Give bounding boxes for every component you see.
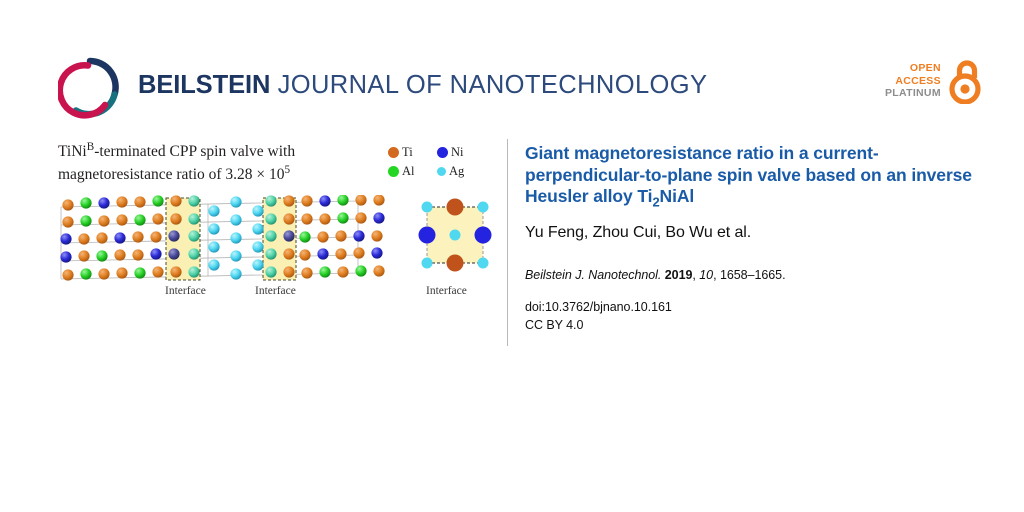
- legend-swatch-al: [388, 166, 399, 177]
- journal-brand[interactable]: BEILSTEIN JOURNAL OF NANOTECHNOLOGY: [58, 55, 707, 119]
- legend-swatch-ti: [388, 147, 399, 158]
- legend-row-2: Al Ag: [388, 164, 477, 179]
- interface-label-3: Interface: [426, 285, 467, 297]
- citation-comma-1: ,: [692, 268, 695, 282]
- article-license[interactable]: CC BY 4.0: [525, 317, 975, 335]
- caption-superscript-5: 5: [285, 164, 291, 176]
- caption-text-1: TiNi: [58, 143, 87, 160]
- graphical-abstract-caption: TiNiB-terminated CPP spin valve with mag…: [58, 140, 368, 186]
- atom-legend: Ti Ni Al Ag: [388, 145, 477, 183]
- interface-unit-cell-inset: [419, 199, 492, 272]
- citation-year: 2019: [665, 268, 693, 282]
- citation-pages: 1658–1665.: [720, 268, 786, 282]
- article-title[interactable]: Giant magnetoresistance ratio in a curre…: [525, 143, 975, 210]
- wordmark-light: JOURNAL OF NANOTECHNOLOGY: [278, 71, 708, 99]
- left-electrode-atoms: [60, 195, 181, 280]
- right-electrode-atoms: [299, 195, 384, 279]
- caption-text-2: -terminated CPP spin valve with magnetor…: [58, 143, 295, 183]
- spin-valve-structure-figure: Interface Interface Interface: [58, 195, 498, 295]
- article-citation: Beilstein J. Nanotechnol. 2019, 10, 1658…: [525, 268, 975, 282]
- legend-row-1: Ti Ni: [388, 145, 477, 160]
- legend-swatch-ni: [437, 147, 448, 158]
- open-access-badge[interactable]: OPEN ACCESS PLATINUM: [885, 58, 983, 104]
- legend-item-al: Al: [388, 164, 428, 179]
- citation-journal: Beilstein J. Nanotechnol.: [525, 268, 661, 282]
- ag-spacer-atoms: [208, 196, 263, 279]
- oa-line-access: ACCESS: [885, 75, 941, 87]
- article-doi[interactable]: doi:10.3762/bjnano.10.161: [525, 299, 975, 317]
- legend-swatch-ag: [437, 167, 446, 176]
- legend-label-al: Al: [402, 164, 415, 179]
- article-title-text-1: Giant magnetoresistance ratio in a curre…: [525, 143, 972, 206]
- masthead: BEILSTEIN JOURNAL OF NANOTECHNOLOGY OPEN…: [0, 0, 1024, 130]
- legend-label-ag: Ag: [449, 164, 464, 179]
- oa-line-platinum: PLATINUM: [885, 87, 941, 99]
- legend-item-ti: Ti: [388, 145, 428, 160]
- article-authors: Yu Feng, Zhou Cui, Bo Wu et al.: [525, 224, 975, 242]
- open-access-label: OPEN ACCESS PLATINUM: [885, 62, 941, 99]
- article-title-subscript: 2: [652, 195, 659, 210]
- interface-label-2: Interface: [255, 285, 296, 297]
- citation-volume: 10: [699, 268, 713, 282]
- oa-line-open: OPEN: [885, 62, 941, 74]
- journal-wordmark: BEILSTEIN JOURNAL OF NANOTECHNOLOGY: [138, 73, 707, 101]
- graphical-abstract: TiNiB-terminated CPP spin valve with mag…: [58, 140, 498, 295]
- legend-label-ni: Ni: [451, 145, 464, 160]
- article-title-text-2: NiAl: [660, 186, 695, 206]
- legend-item-ag: Ag: [437, 164, 477, 179]
- open-padlock-icon: [947, 58, 983, 104]
- legend-label-ti: Ti: [402, 145, 413, 160]
- article-record: Giant magnetoresistance ratio in a curre…: [525, 143, 975, 335]
- legend-item-ni: Ni: [437, 145, 477, 160]
- beilstein-swirl-logo-icon: [58, 55, 122, 119]
- citation-comma-2: ,: [713, 268, 716, 282]
- content-divider: [507, 139, 508, 346]
- wordmark-bold: BEILSTEIN: [138, 71, 270, 99]
- interface-label-1: Interface: [165, 285, 206, 297]
